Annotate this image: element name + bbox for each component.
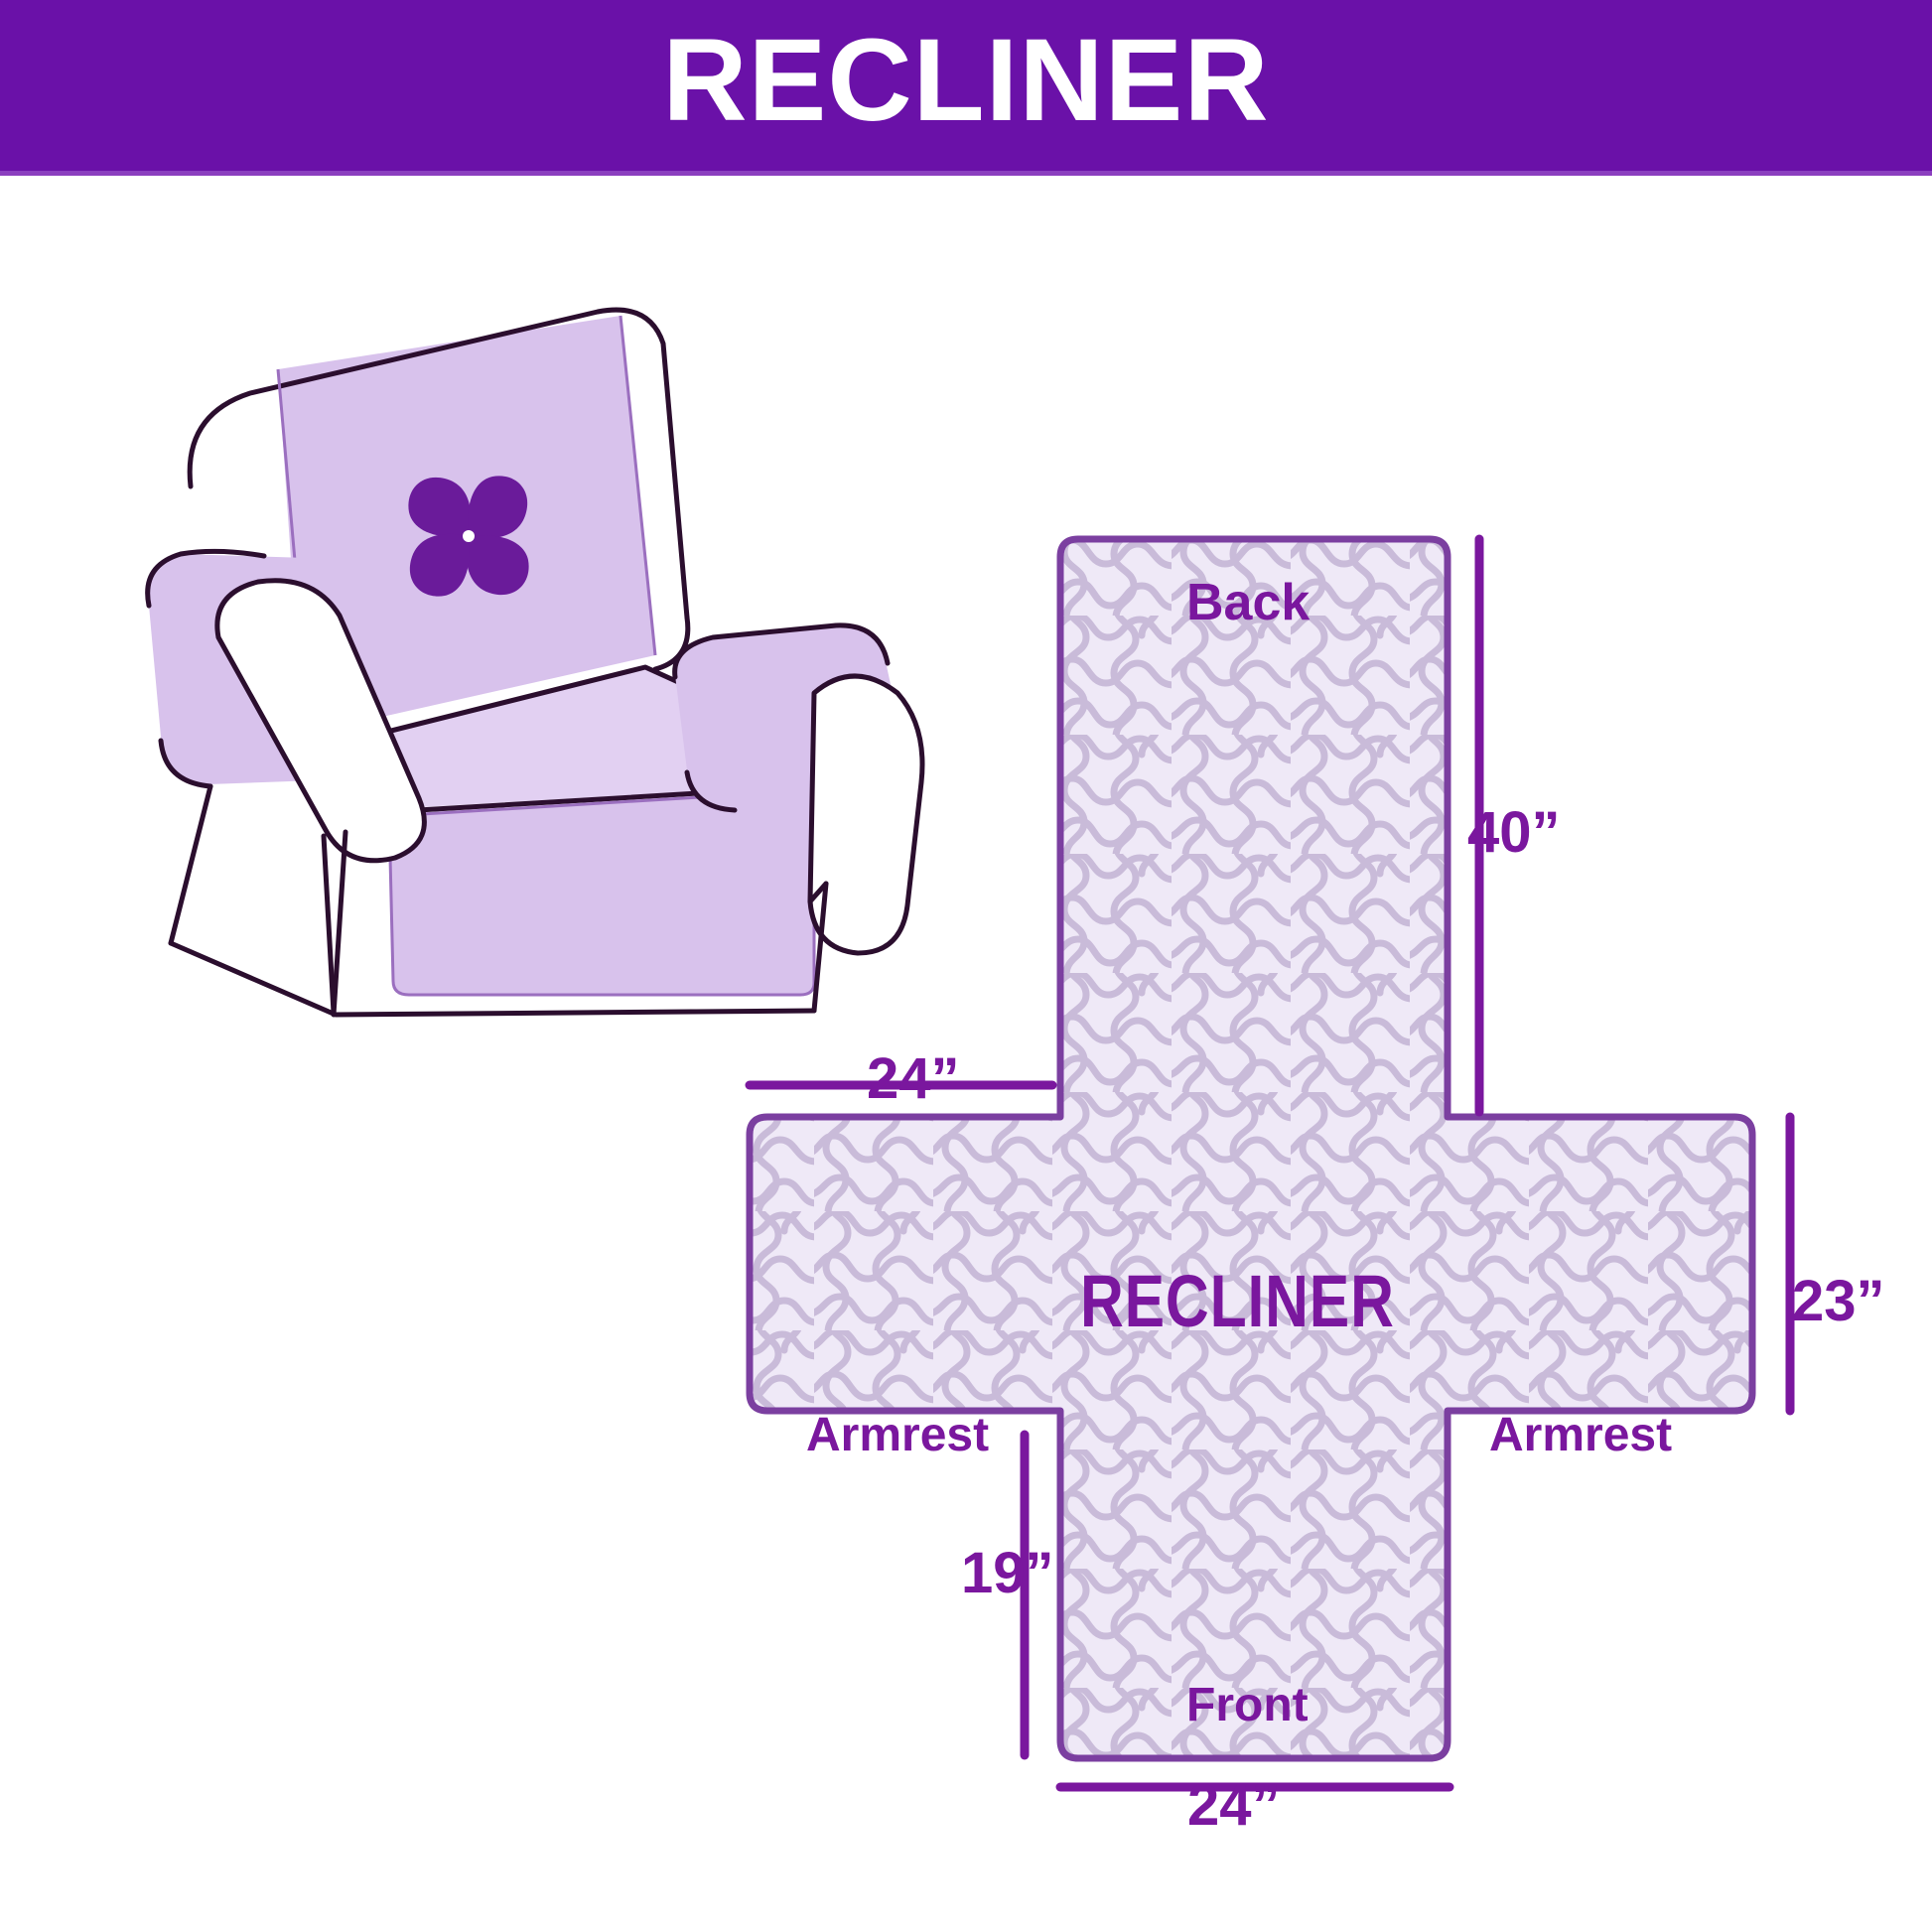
section-label-armrest-right: Armrest: [1489, 1408, 1672, 1462]
dimension-label-front-height: 19”: [961, 1540, 1054, 1606]
diagram-center-label: RECLINER: [1080, 1259, 1395, 1343]
header-banner: RECLINER: [0, 0, 1932, 171]
slipcover-cross-diagram: [695, 496, 1932, 1847]
dimension-label-front-width: 24”: [1187, 1772, 1281, 1839]
section-label-armrest-left: Armrest: [806, 1408, 989, 1462]
header-underline-divider: [0, 171, 1932, 176]
dimension-label-back-height: 40”: [1467, 799, 1561, 866]
section-label-back: Back: [1186, 573, 1310, 632]
cover-fabric-area: [695, 496, 1932, 1847]
page-title: RECLINER: [0, 0, 1932, 171]
dimension-label-seat-width-top: 24”: [867, 1045, 960, 1112]
section-label-front: Front: [1186, 1678, 1309, 1732]
dimension-label-armrest-span-height: 23”: [1792, 1268, 1885, 1334]
recliner-size-chart-page: RECLINER .co { fill:none; stroke:#2B0E2E…: [0, 0, 1932, 1932]
